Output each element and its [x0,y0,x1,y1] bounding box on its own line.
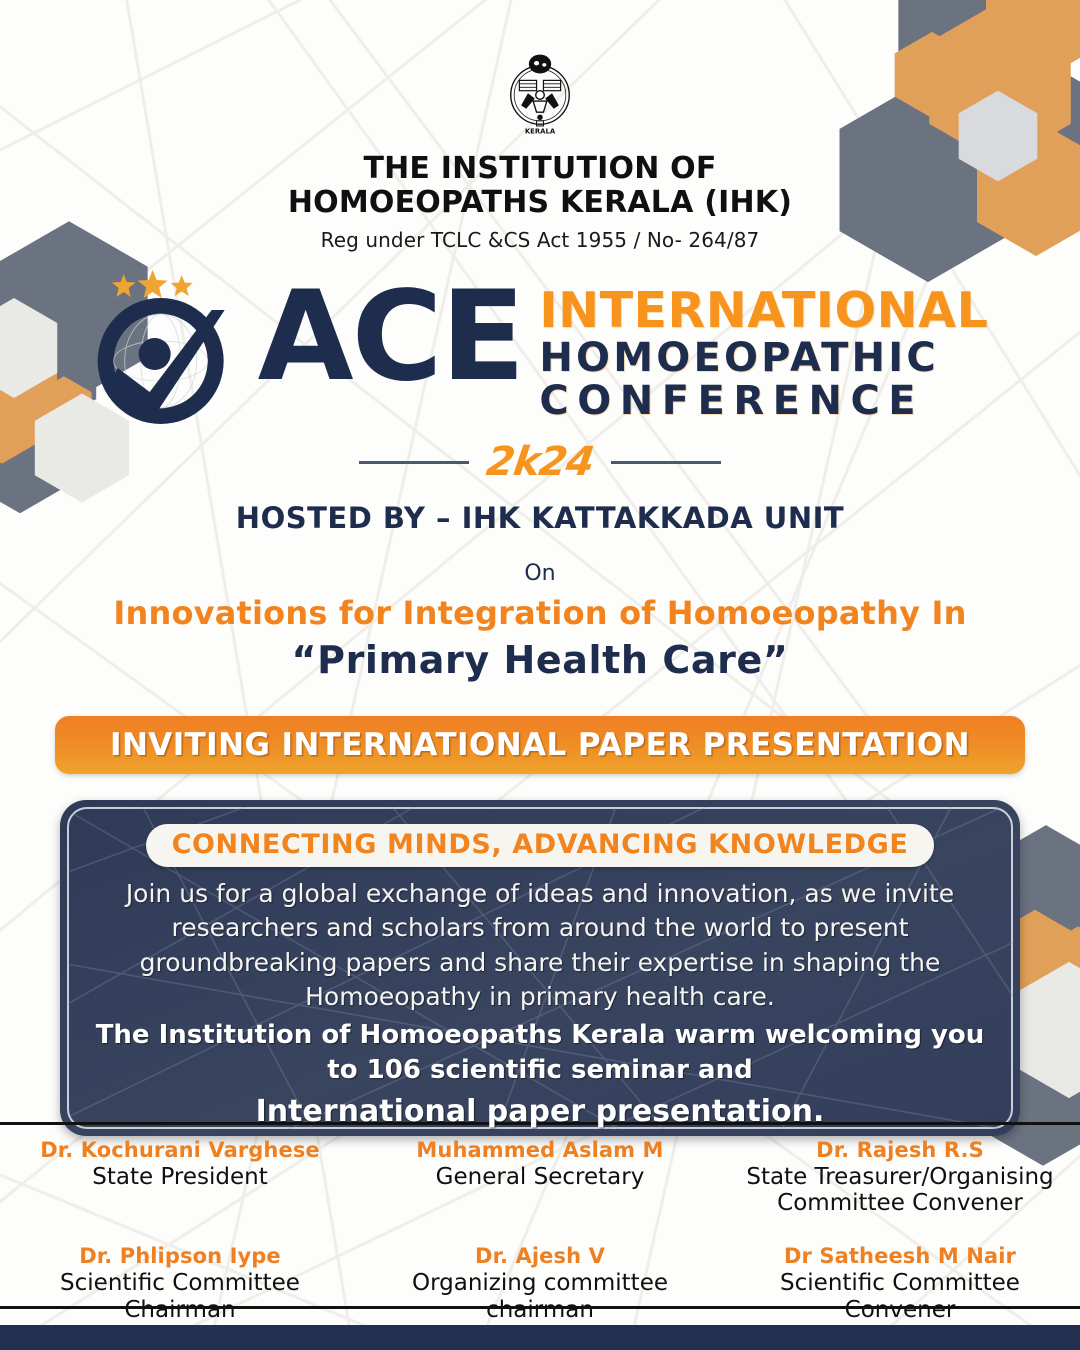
official-role: Scientific Committee Chairman [8,1270,352,1322]
callout-inner: CONNECTING MINDS, ADVANCING KNOWLEDGE Jo… [80,816,1000,1129]
callout-bold-line: The Institution of Homoeopaths Kerala wa… [80,1018,1000,1088]
official-cell: Dr. Ajesh V Organizing committee chairma… [360,1244,720,1322]
callout-pill-text: CONNECTING MINDS, ADVANCING KNOWLEDGE [172,829,909,860]
rule-left [359,461,469,464]
callout-paragraph: Join us for a global exchange of ideas a… [80,877,1000,1014]
theme-line-1: Innovations for Integration of Homoeopat… [0,594,1080,632]
inviting-banner-text: INVITING INTERNATIONAL PAPER PRESENTATIO… [110,727,970,763]
official-cell: Dr. Phlipson Iype Scientific Committee C… [0,1244,360,1322]
ace-line-homoeopathic: HOMOEOPATHIC [539,338,988,379]
hosted-by-label: HOSTED BY – IHK KATTAKKADA UNIT [0,501,1080,535]
poster-content: KERALA THE INSTITUTION OF HOMOEOPATHS KE… [0,0,1080,1350]
theme-line-2: “Primary Health Care” [0,638,1080,682]
official-cell: Muhammed Aslam M General Secretary [360,1138,720,1216]
official-role: Organizing committee chairman [368,1270,712,1322]
ace-checkmark-person-icon [92,292,232,430]
official-role: State Treasurer/Organising Committee Con… [728,1164,1072,1216]
ace-mark [92,270,270,430]
ace-logo-block: ACE INTERNATIONAL HOMOEOPATHIC CONFERENC… [0,270,1080,445]
callout-pill: CONNECTING MINDS, ADVANCING KNOWLEDGE [146,824,935,867]
bottom-navy-bar [0,1325,1080,1350]
official-name: Muhammed Aslam M [368,1138,712,1162]
ace-line-international: INTERNATIONAL [539,286,988,336]
ihk-emblem-icon: KERALA [497,52,583,138]
poster-canvas: KERALA THE INSTITUTION OF HOMOEOPATHS KE… [0,0,1080,1350]
official-name: Dr. Kochurani Varghese [8,1138,352,1162]
separator-bottom [0,1306,1080,1309]
inviting-banner: INVITING INTERNATIONAL PAPER PRESENTATIO… [55,716,1025,774]
official-role: Scientific Committee Convener [728,1270,1072,1322]
official-name: Dr. Rajesh R.S [728,1138,1072,1162]
official-role: General Secretary [368,1164,712,1190]
year-label: 2k24 [484,439,597,485]
official-cell: Dr. Rajesh R.S State Treasurer/Organisin… [720,1138,1080,1216]
official-role: State President [8,1164,352,1190]
theme-on-label: On [0,561,1080,586]
official-name: Dr Satheesh M Nair [728,1244,1072,1268]
official-cell: Dr Satheesh M Nair Scientific Committee … [720,1244,1080,1322]
official-name: Dr. Ajesh V [368,1244,712,1268]
svg-text:KERALA: KERALA [525,128,556,136]
callout-last-line: International paper presentation. [80,1094,1000,1129]
org-title-line-2: HOMOEOPATHS KERALA (IHK) [0,186,1080,220]
callout-box: CONNECTING MINDS, ADVANCING KNOWLEDGE Jo… [60,800,1020,1136]
officials-row-1: Dr. Kochurani Varghese State President M… [0,1138,1080,1216]
official-name: Dr. Phlipson Iype [8,1244,352,1268]
official-cell: Dr. Kochurani Varghese State President [0,1138,360,1216]
year-rule-row: 2k24 [0,439,1080,485]
org-title-line-1: THE INSTITUTION OF [0,152,1080,186]
officials-row-2: Dr. Phlipson Iype Scientific Committee C… [0,1244,1080,1322]
ace-wordmark: ACE [258,280,524,394]
rule-right [611,461,721,464]
poster-header: KERALA THE INSTITUTION OF HOMOEOPATHS KE… [0,0,1080,252]
ace-subtitle-stack: INTERNATIONAL HOMOEOPATHIC CONFERENCE [539,286,988,422]
registration-text: Reg under TCLC &CS Act 1955 / No- 264/87 [0,228,1080,252]
ace-line-conference: CONFERENCE [539,381,988,422]
officials-section: Dr. Kochurani Varghese State President M… [0,1138,1080,1323]
organization-title: THE INSTITUTION OF HOMOEOPATHS KERALA (I… [0,152,1080,219]
